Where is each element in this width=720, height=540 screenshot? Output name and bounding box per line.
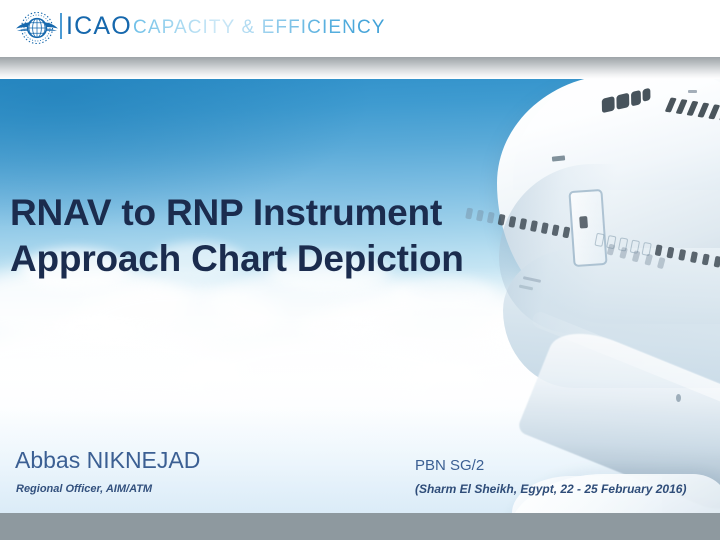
fuselage-marking [688, 90, 697, 93]
header-tagline: CAPACITY & EFFICIENCY [133, 17, 386, 39]
door-window [579, 216, 588, 229]
event-name: PBN SG/2 [415, 456, 484, 475]
title-line-2: Approach Chart Depiction [10, 236, 570, 282]
presenter-role: Regional Officer, AIM/ATM [16, 482, 152, 496]
icao-roundel-wings-logo [14, 9, 60, 47]
slide-header: ICAO CAPACITY & EFFICIENCY [0, 0, 720, 57]
page-title: RNAV to RNP Instrument Approach Chart De… [10, 190, 570, 282]
header-divider-icon [60, 13, 62, 39]
presenter-name: Abbas NIKNEJAD [15, 447, 200, 474]
wing-marking [676, 394, 681, 402]
slide-bottom-bar [0, 513, 720, 540]
title-line-1: RNAV to RNP Instrument [10, 190, 570, 236]
header-shadow-band [0, 57, 720, 79]
presentation-slide: ICAO CAPACITY & EFFICIENCY [0, 0, 720, 540]
icao-wordmark: ICAO [66, 13, 132, 39]
event-details: (Sharm El Sheikh, Egypt, 22 - 25 Februar… [415, 481, 686, 497]
